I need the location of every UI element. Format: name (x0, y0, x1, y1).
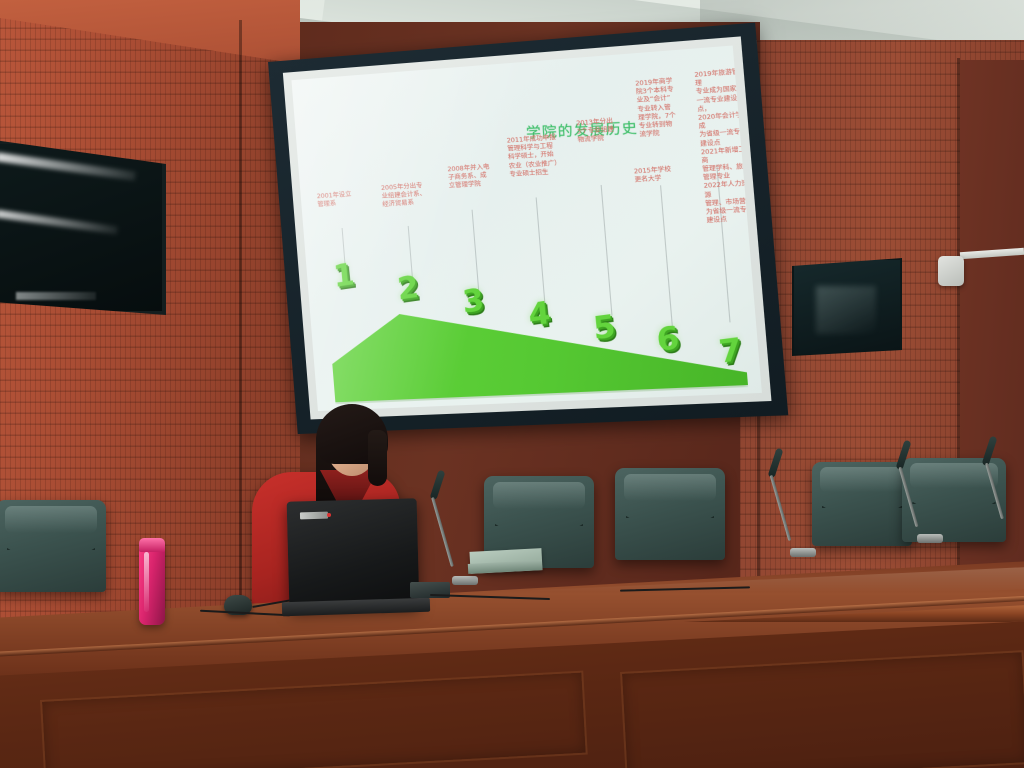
leader-line (660, 185, 673, 327)
timeline-number-6: 6 (655, 320, 681, 360)
microphone-base-2 (790, 548, 816, 557)
chair-highlight (624, 474, 716, 502)
chair-highlight (820, 467, 904, 492)
timeline-number-7: 7 (717, 331, 743, 371)
leader-line (536, 197, 546, 308)
desk-front-panel-2 (620, 650, 1024, 768)
timeline-number-3: 3 (461, 282, 486, 321)
microphone-base-3 (917, 534, 943, 543)
chair-5 (902, 458, 1006, 542)
timeline-number-1: 1 (332, 257, 356, 295)
right-wall-display (792, 258, 902, 356)
presenter-hair-right (368, 430, 387, 486)
chair-highlight (910, 463, 997, 488)
milestone-annotation-4: 2011年成功申报 管理科学与工程 科学硕士，开始 农业（农业推广） 专业硕士招… (506, 133, 568, 179)
chair-highlight (5, 506, 97, 534)
slide-surface: 学院的发展历史 2001年设立 管理系 2005年分出专 业组建会计系、 经济贸… (291, 45, 761, 411)
display-glare-reflection (816, 286, 876, 334)
milestone-annotation-5: 2013年分出 3个专业组建 物流学院 (576, 117, 627, 146)
milestone-annotation-3: 2008年并入电 子商务系、成 立管理学院 (447, 163, 501, 192)
water-bottle-highlight (144, 552, 149, 612)
laptop-brand-logo (300, 512, 328, 520)
wall-joint (239, 20, 242, 670)
wall-speaker-icon (938, 256, 964, 286)
milestone-annotation-6: 2015年学校 更名大学 (634, 165, 683, 185)
display-bezel-logo (16, 292, 96, 300)
milestone-annotation-7: 2019年商学 院3个本科专 业及“会计” 专业转入管 理学院，7个 专业转到物… (635, 77, 685, 140)
chair-highlight (493, 482, 585, 510)
timeline-number-2: 2 (396, 269, 421, 308)
chair-4 (812, 462, 912, 546)
laptop-logo-dot-icon (327, 513, 331, 517)
water-bottle (139, 541, 165, 625)
lecture-hall-scene: 学院的发展历史 2001年设立 管理系 2005年分出专 业组建会计系、 经济贸… (0, 0, 1024, 768)
microphone-base-1 (452, 576, 478, 585)
water-bottle-cap (139, 538, 165, 552)
chair-1 (0, 500, 106, 592)
leader-line (601, 185, 613, 316)
milestone-annotation-2: 2005年分出专 业组建会计系、 经济贸易系 (381, 181, 438, 209)
timeline-number-4: 4 (527, 295, 552, 334)
timeline-number-5: 5 (592, 308, 618, 347)
milestone-annotation-1: 2001年设立 管理系 (317, 190, 371, 210)
chair-3 (615, 468, 725, 560)
projection-screen-assembly: 学院的发展历史 2001年设立 管理系 2005年分出专 业组建会计系、 经济贸… (268, 22, 795, 462)
